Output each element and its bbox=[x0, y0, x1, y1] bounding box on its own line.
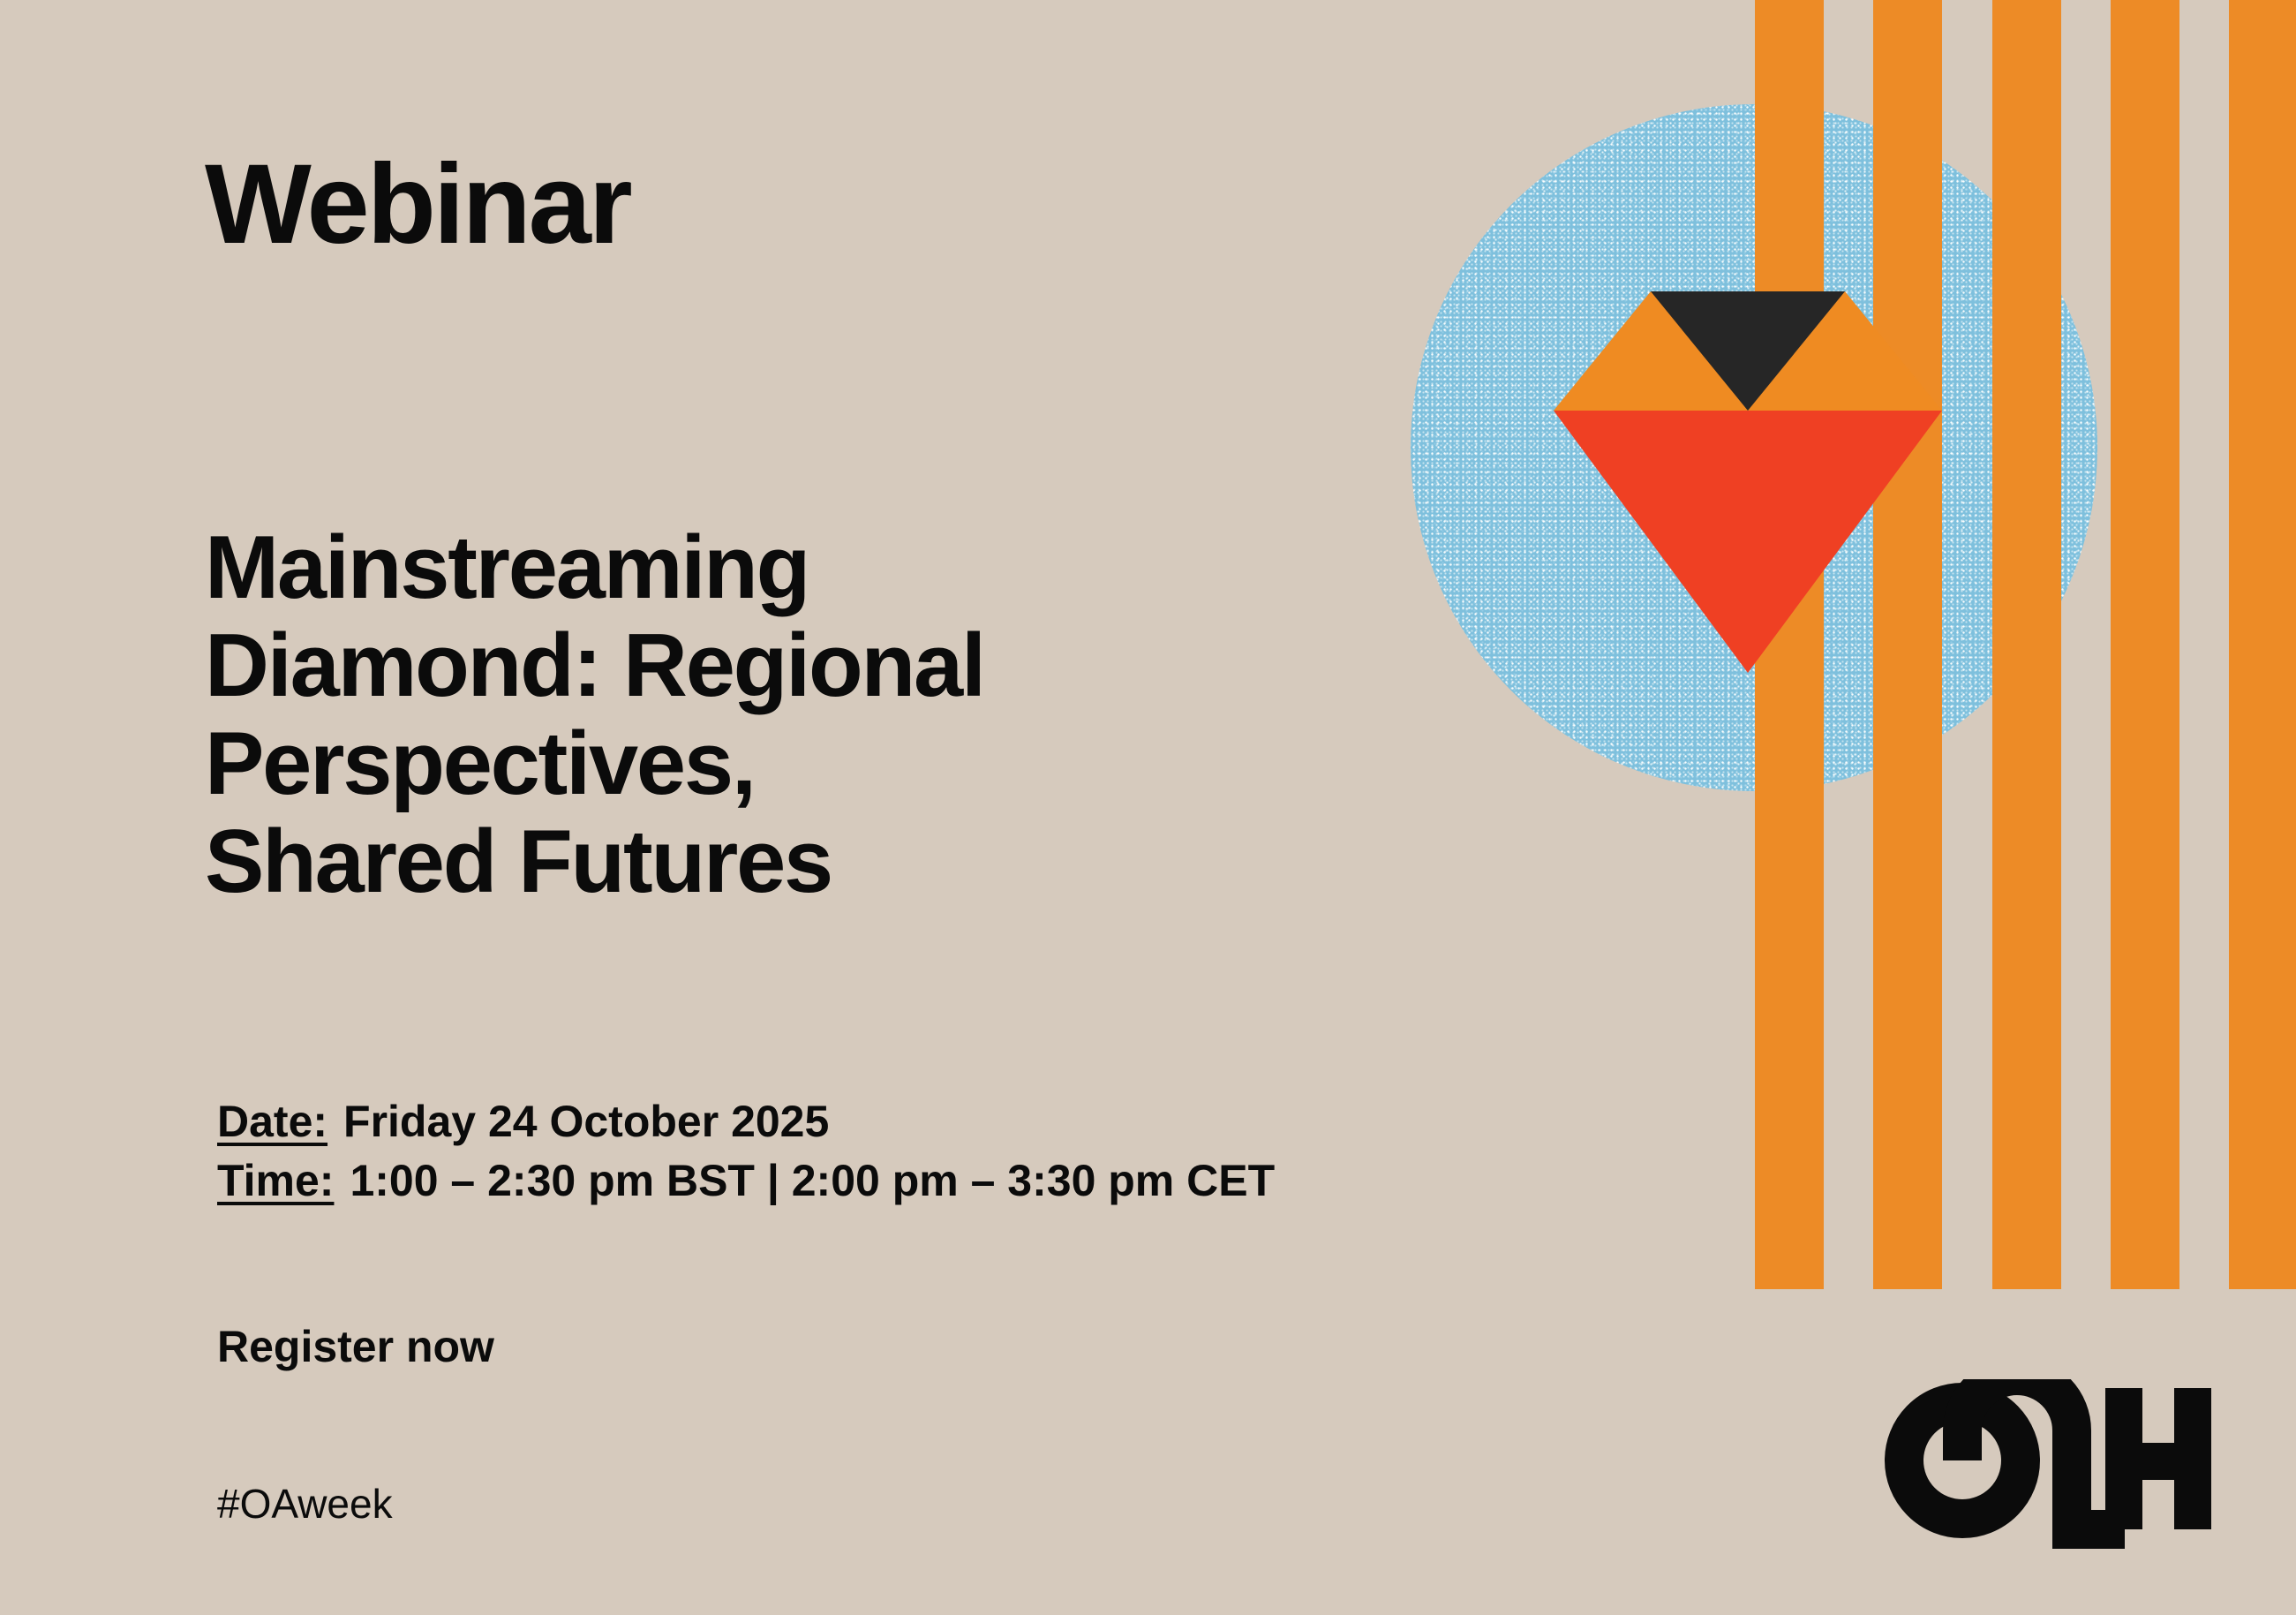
title-line-3: Perspectives, bbox=[205, 715, 1379, 813]
time-value: 1:00 – 2:30 pm BST | 2:00 pm – 3:30 pm C… bbox=[350, 1151, 1275, 1211]
diamond-illustration bbox=[1554, 287, 1942, 684]
event-time-row: Time: 1:00 – 2:30 pm BST | 2:00 pm – 3:3… bbox=[217, 1151, 1275, 1211]
date-value: Friday 24 October 2025 bbox=[343, 1092, 829, 1151]
oah-logo bbox=[1885, 1379, 2229, 1569]
date-label: Date: bbox=[217, 1092, 327, 1151]
page-title: Mainstreaming Diamond: Regional Perspect… bbox=[205, 519, 1379, 911]
webinar-promo-poster: Webinar Mainstreaming Diamond: Regional … bbox=[0, 0, 2296, 1615]
title-line-2: Diamond: Regional bbox=[205, 617, 1379, 715]
title-line-1: Mainstreaming bbox=[205, 519, 1379, 617]
title-line-4: Shared Futures bbox=[205, 813, 1379, 911]
orange-stripe bbox=[2229, 0, 2296, 1289]
diamond-pavilion-facet bbox=[1554, 411, 1942, 673]
logo-h-right-stem bbox=[2174, 1388, 2211, 1529]
register-now-link[interactable]: Register now bbox=[217, 1324, 494, 1369]
orange-stripe bbox=[2111, 0, 2179, 1289]
eyebrow-label: Webinar bbox=[205, 148, 630, 261]
orange-stripe bbox=[1992, 0, 2061, 1289]
event-date-row: Date: Friday 24 October 2025 bbox=[217, 1092, 1275, 1151]
event-details: Date: Friday 24 October 2025 Time: 1:00 … bbox=[217, 1092, 1275, 1211]
hashtag-label: #OAweek bbox=[217, 1483, 393, 1524]
time-label: Time: bbox=[217, 1151, 334, 1211]
